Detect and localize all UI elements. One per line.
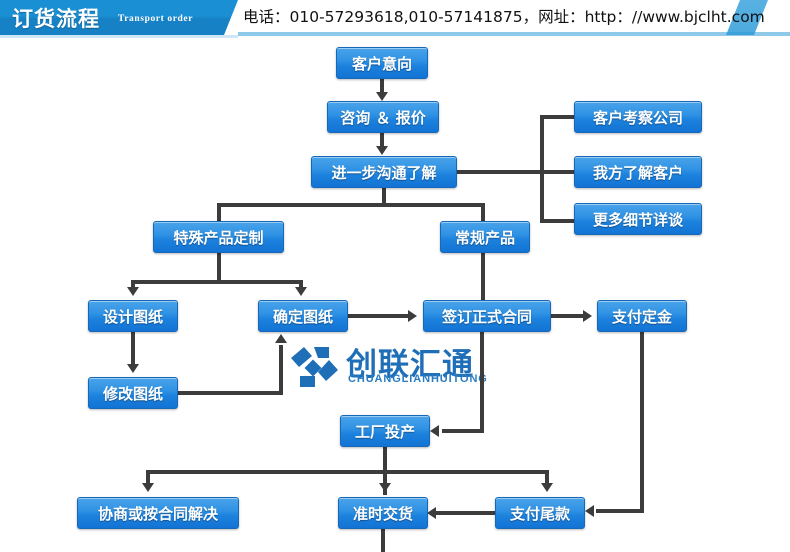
flow-node-pay-balance[interactable]: 支付尾款 xyxy=(495,497,585,529)
flow-node-confirm-drawing[interactable]: 确定图纸 xyxy=(258,300,348,332)
connector-line xyxy=(279,345,283,393)
connector-arrow-down-icon xyxy=(142,483,154,492)
connector-arrow-right-icon xyxy=(408,310,417,322)
flow-node-more-details-discussion[interactable]: 更多细节详谈 xyxy=(574,203,702,235)
connector-line xyxy=(480,332,484,429)
connector-line xyxy=(540,115,574,119)
connector-arrow-left-icon xyxy=(427,507,436,519)
flow-node-standard-product[interactable]: 常规产品 xyxy=(440,221,530,253)
page-header: 订货流程 Transport order 电话：010-57293618,010… xyxy=(0,0,790,42)
connector-line xyxy=(540,170,574,174)
connector-line xyxy=(178,391,283,395)
connector-line xyxy=(348,314,408,318)
flow-node-negotiate-or-contract-resolution[interactable]: 协商或按合同解决 xyxy=(77,497,239,529)
connector-line xyxy=(217,203,221,221)
company-logo: 创联汇通 CHUANGLIANHUITONG xyxy=(288,342,474,392)
page-title: 订货流程 xyxy=(12,3,100,33)
pinwheel-logo-icon xyxy=(288,345,340,394)
connector-arrow-down-icon xyxy=(376,146,388,155)
connector-line xyxy=(481,253,485,300)
connector-line xyxy=(540,219,574,223)
header-rule xyxy=(238,32,790,36)
connector-line xyxy=(131,332,135,364)
connector-arrow-up-icon xyxy=(275,334,287,343)
connector-line xyxy=(481,203,485,221)
flow-node-pay-deposit[interactable]: 支付定金 xyxy=(597,300,687,332)
flow-node-we-understand-customer[interactable]: 我方了解客户 xyxy=(574,156,702,188)
connector-line xyxy=(146,470,549,474)
order-process-flowchart-page: 订货流程 Transport order 电话：010-57293618,010… xyxy=(0,0,790,552)
connector-line xyxy=(640,332,644,511)
connector-arrow-down-icon xyxy=(379,483,391,492)
connector-line xyxy=(545,470,549,484)
flow-node-sign-contract[interactable]: 签订正式合同 xyxy=(423,300,551,332)
connector-line xyxy=(436,511,496,515)
connector-line xyxy=(596,509,644,513)
flow-node-factory-production[interactable]: 工厂投产 xyxy=(340,415,430,447)
logo-name-en: CHUANGLIANHUITONG xyxy=(348,373,488,385)
flow-node-on-time-delivery[interactable]: 准时交货 xyxy=(338,497,428,529)
contact-info: 电话：010-57293618,010-57141875，网址：http：//w… xyxy=(243,5,765,27)
connector-line xyxy=(146,470,150,484)
flow-node-revise-drawing[interactable]: 修改图纸 xyxy=(88,377,178,409)
connector-line xyxy=(380,79,384,93)
connector-line xyxy=(457,170,544,174)
connector-arrow-down-icon xyxy=(127,287,139,296)
flow-node-design-drawing[interactable]: 设计图纸 xyxy=(88,300,178,332)
connector-arrow-left-icon xyxy=(430,425,439,437)
connector-arrow-right-icon xyxy=(583,310,592,322)
connector-line xyxy=(217,203,485,207)
connector-line xyxy=(380,133,384,147)
page-subtitle: Transport order xyxy=(118,14,193,24)
flow-node-custom-product[interactable]: 特殊产品定制 xyxy=(153,221,284,253)
connector-arrow-down-icon xyxy=(127,364,139,373)
flow-node-customer-visits-company[interactable]: 客户考察公司 xyxy=(574,101,702,133)
flow-node-customer-intent[interactable]: 客户意向 xyxy=(336,47,428,79)
connector-line xyxy=(381,529,385,552)
connector-arrow-down-icon xyxy=(376,92,388,101)
flow-node-further-communication[interactable]: 进一步沟通了解 xyxy=(311,156,457,188)
connector-arrow-down-icon xyxy=(295,287,307,296)
connector-line xyxy=(442,429,484,433)
flow-node-inquiry-quote[interactable]: 咨询 ＆ 报价 xyxy=(327,101,439,133)
connector-arrow-down-icon xyxy=(541,483,553,492)
connector-line xyxy=(131,280,303,284)
connector-line xyxy=(540,115,544,223)
connector-arrow-left-icon xyxy=(585,505,594,517)
connector-line xyxy=(551,314,583,318)
header-rule-left xyxy=(0,35,238,38)
